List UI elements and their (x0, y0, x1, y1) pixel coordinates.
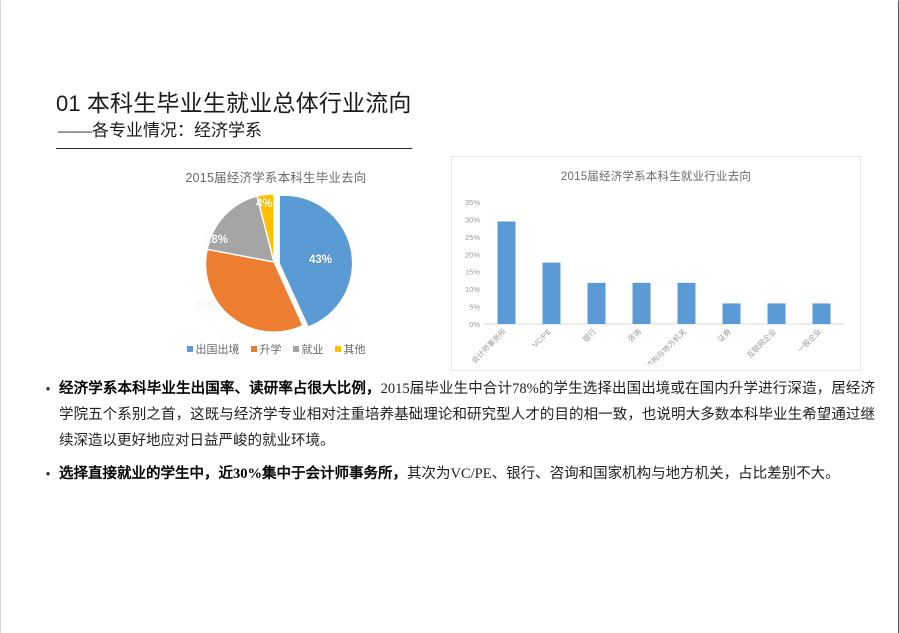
y-axis-tick-label: 5% (469, 303, 480, 312)
y-axis-tick-label: 30% (465, 215, 480, 224)
y-axis-tick-label: 15% (465, 268, 480, 277)
x-axis-category-labels: 会计师事务所VC/PE银行咨询国家机构与地方机关证券互联网企业一般企业 (469, 326, 823, 364)
legend-label: 就业 (302, 341, 324, 357)
pie-chart-svg (186, 190, 366, 335)
bullet-body: 其次为VC/PE、银行、咨询和国家机构与地方机关，占比差别不大。 (407, 466, 840, 482)
slide-header: 01 本科生毕业生就业总体行业流向 ——各专业情况：经济学系 (56, 89, 416, 143)
legend-item-shengxue[interactable]: 升学 (251, 341, 282, 357)
bullet-paragraph-2: 选择直接就业的学生中，近30%集中于会计师事务所，其次为VC/PE、银行、咨询和… (59, 461, 875, 487)
y-axis-tick-label: 10% (465, 285, 480, 294)
x-axis-tick-label: 互联网企业 (744, 326, 778, 360)
pie-chart-plot: 43% 35% 18% 4% (121, 190, 431, 335)
bullet-paragraph-1: 经济学系本科毕业生出国率、读研率占很大比例，2015届毕业生中合计78%的学生选… (59, 376, 875, 454)
x-axis-tick-label: 咨询 (625, 326, 643, 344)
bar-chart-plot: 0%5%10%15%20%25%30%35% 会计师事务所VC/PE银行咨询国家… (452, 184, 862, 364)
bar-series (498, 222, 831, 324)
bar[interactable] (588, 283, 606, 324)
legend-item-qita[interactable]: 其他 (335, 341, 366, 357)
pie-chart-legend: 出国出境 升学 就业 其他 (121, 341, 431, 357)
page-title-number: 01 (56, 91, 81, 116)
x-axis-tick-label: 会计师事务所 (469, 326, 508, 364)
legend-swatch-icon (293, 346, 299, 352)
page-title-text: 本科生毕业生就业总体行业流向 (87, 91, 412, 116)
bar[interactable] (498, 222, 516, 324)
legend-label: 出国出境 (196, 341, 240, 357)
y-axis-ticks: 0%5%10%15%20%25%30%35% (465, 198, 480, 329)
page-title: 01 本科生毕业生就业总体行业流向 (56, 89, 416, 119)
x-axis-tick-label: 银行 (580, 326, 598, 344)
y-axis-tick-label: 25% (465, 233, 480, 242)
bar-chart: 2015届经济学系本科生就业行业去向 0%5%10%15%20%25%30%35… (451, 156, 861, 371)
bullet-bold-lead: 经济学系本科毕业生出国率、读研率占很大比例， (59, 381, 381, 397)
legend-label: 其他 (344, 341, 366, 357)
slide-canvas: 01 本科生毕业生就业总体行业流向 ——各专业情况：经济学系 2015届经济学系… (0, 0, 899, 633)
bullet-marker-icon: • (37, 461, 59, 487)
x-axis-tick-label: VC/PE (531, 327, 553, 349)
bullet-item-1: • 经济学系本科毕业生出国率、读研率占很大比例，2015届毕业生中合计78%的学… (37, 376, 875, 454)
y-axis-tick-label: 20% (465, 250, 480, 259)
bar[interactable] (678, 283, 696, 324)
title-divider (56, 148, 412, 149)
pie-label-yellow: 4% (256, 198, 273, 210)
pie-label-gray: 18% (205, 234, 228, 246)
bar[interactable] (543, 263, 561, 324)
pie-label-orange: 35% (196, 300, 219, 312)
bullet-item-2: • 选择直接就业的学生中，近30%集中于会计师事务所，其次为VC/PE、银行、咨… (37, 461, 875, 487)
x-axis-tick-label: 证券 (715, 326, 733, 344)
y-axis-tick-label: 0% (469, 320, 480, 329)
legend-item-jiuye[interactable]: 就业 (293, 341, 324, 357)
x-axis-tick-label: 一般企业 (795, 326, 824, 355)
x-axis-tick-label: 国家机构与地方机关 (633, 326, 688, 364)
bar[interactable] (633, 283, 651, 324)
bar[interactable] (813, 303, 831, 324)
y-axis-tick-label: 35% (465, 198, 480, 207)
bar-chart-title: 2015届经济学系本科生就业行业去向 (452, 157, 860, 184)
pie-chart-title: 2015届经济学系本科生毕业去向 (121, 163, 431, 186)
bar-chart-svg: 0%5%10%15%20%25%30%35% 会计师事务所VC/PE银行咨询国家… (452, 184, 862, 364)
body-text: • 经济学系本科毕业生出国率、读研率占很大比例，2015届毕业生中合计78%的学… (37, 376, 875, 494)
legend-label: 升学 (260, 341, 282, 357)
pie-chart: 2015届经济学系本科生毕业去向 (121, 163, 431, 368)
legend-swatch-icon (187, 346, 193, 352)
legend-swatch-icon (335, 346, 341, 352)
legend-swatch-icon (251, 346, 257, 352)
page-subtitle: ——各专业情况：经济学系 (56, 119, 416, 143)
bar[interactable] (723, 303, 741, 324)
legend-item-chuguo[interactable]: 出国出境 (187, 341, 240, 357)
bullet-bold-lead: 选择直接就业的学生中，近30%集中于会计师事务所， (59, 466, 407, 482)
bar[interactable] (768, 303, 786, 324)
bullet-marker-icon: • (37, 376, 59, 402)
pie-label-blue: 43% (309, 254, 332, 266)
